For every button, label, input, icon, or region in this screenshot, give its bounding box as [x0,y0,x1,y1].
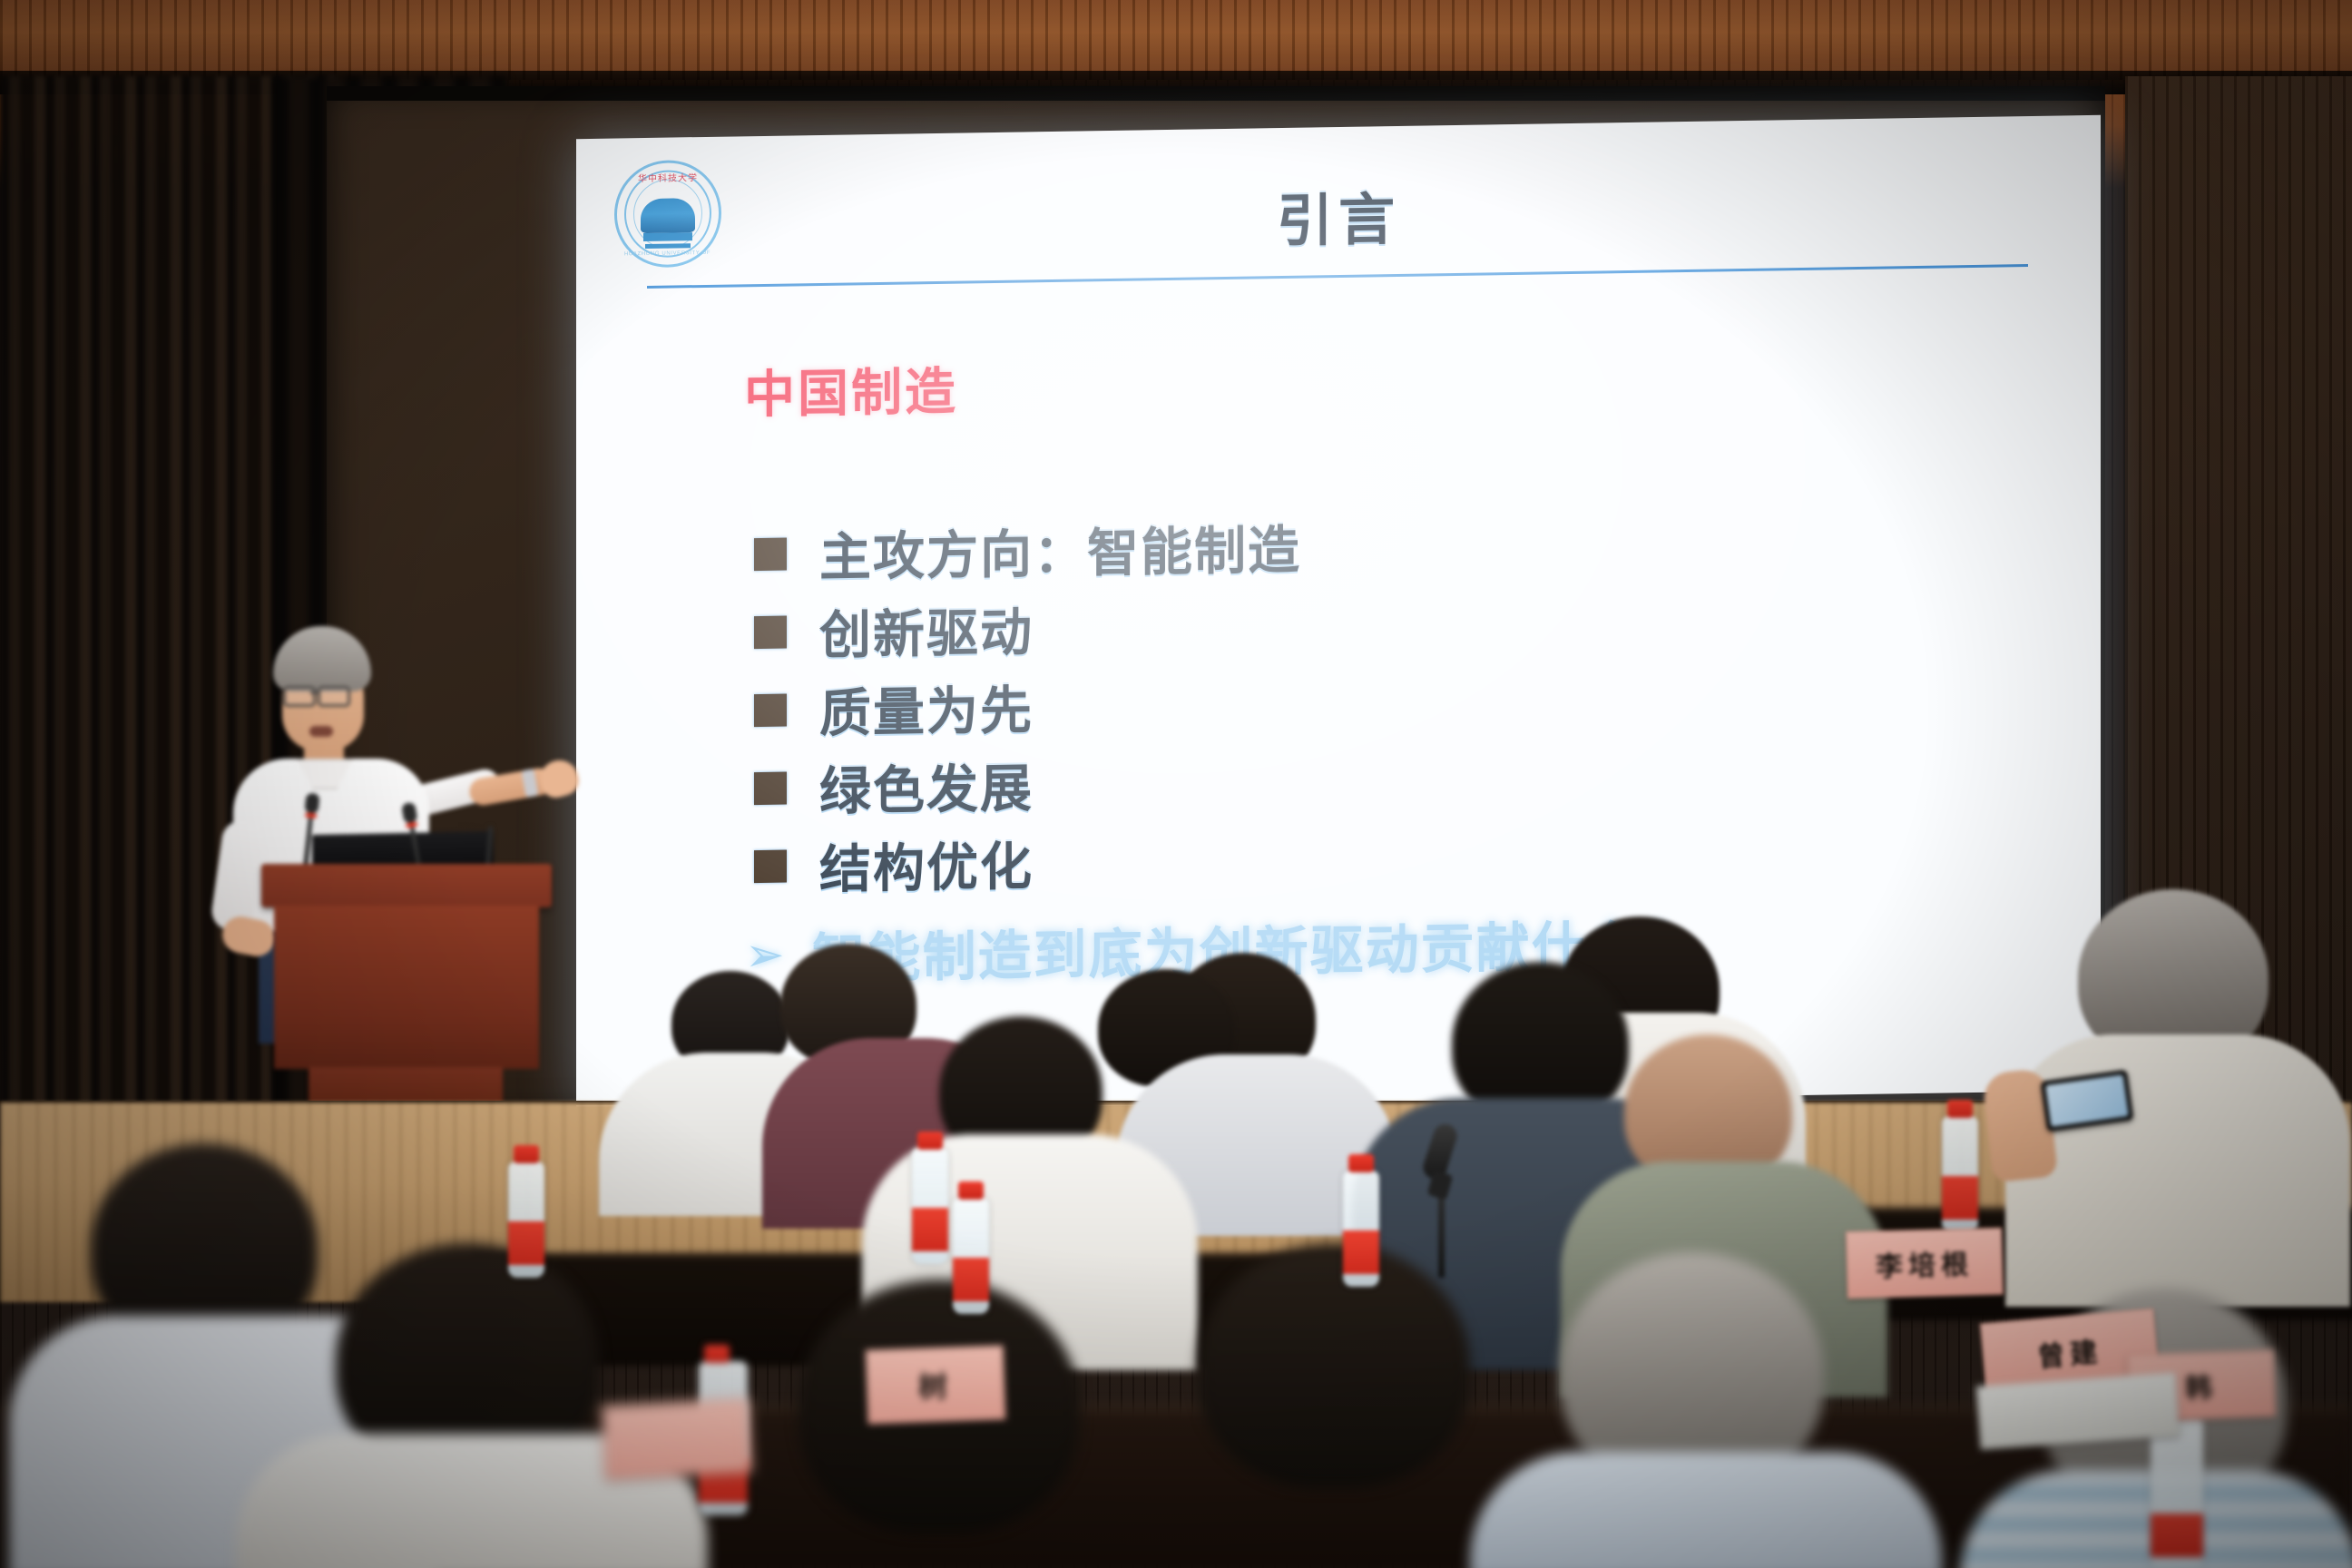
bottle-label [2151,1514,2203,1557]
bullet-text: 创新驱动 [819,591,1034,669]
bullet-text: 绿色发展 [819,747,1034,825]
glasses-bridge-icon [310,691,319,694]
glasses-right-lens-icon [318,686,350,707]
water-bottle [1343,1171,1379,1287]
table-name-card [602,1398,752,1480]
projection-screen-top-edge [327,86,2105,101]
square-bullet-icon [754,616,787,650]
bottle-cap [1947,1100,1973,1118]
water-bottle [953,1198,989,1314]
arrow-bullet-icon: ➢ [745,931,785,979]
podium-top-surface [261,864,552,907]
water-bottle [912,1148,948,1264]
audience-head [1198,1243,1470,1488]
square-bullet-icon [754,538,787,572]
lecture-hall-photo: 华中科技大学 HUAZHONG UNIVERSITY OF SCIENCE AN… [0,0,2352,1568]
square-bullet-icon [754,850,787,884]
bottle-label [953,1258,989,1301]
square-bullet-icon [754,772,787,806]
bottle-cap [704,1345,730,1363]
water-bottle [1942,1116,1978,1232]
bottle-cap [917,1132,943,1150]
bottle-cap [514,1145,539,1163]
table-name-card: 李培根 [1846,1228,2004,1298]
slide-title-rule [647,264,2028,289]
speaker-gray-hair [273,626,371,691]
bullet-text: 主攻方向：智能制造 [819,509,1301,591]
upper-wood-panel [0,0,2352,80]
water-bottle [508,1161,544,1278]
glasses-left-lens-icon [283,686,316,707]
table-name-card: 树 [866,1345,1006,1424]
speaker-mouth [309,726,333,737]
bottle-cap [1348,1154,1374,1172]
bottle-label [1343,1230,1379,1274]
bottle-label [912,1208,948,1251]
phone-screen [2045,1074,2129,1127]
bottle-cap [958,1181,984,1200]
square-bullet-icon [754,694,787,728]
slide-bullet-list: 主攻方向：智能制造 创新驱动 质量为先 绿色发展 结构优化 [754,495,2024,906]
water-bottle [2151,1416,2203,1568]
bullet-text: 质量为先 [819,669,1034,747]
audience-shoulders [1470,1452,1942,1568]
audience-shoulders [2005,1034,2350,1307]
bullet-text: 结构优化 [819,825,1034,903]
bottle-label [508,1221,544,1265]
bottle-label [1942,1176,1978,1220]
slide-title: 引言 [576,162,2101,268]
slide-subheading: 中国制造 [744,351,958,428]
